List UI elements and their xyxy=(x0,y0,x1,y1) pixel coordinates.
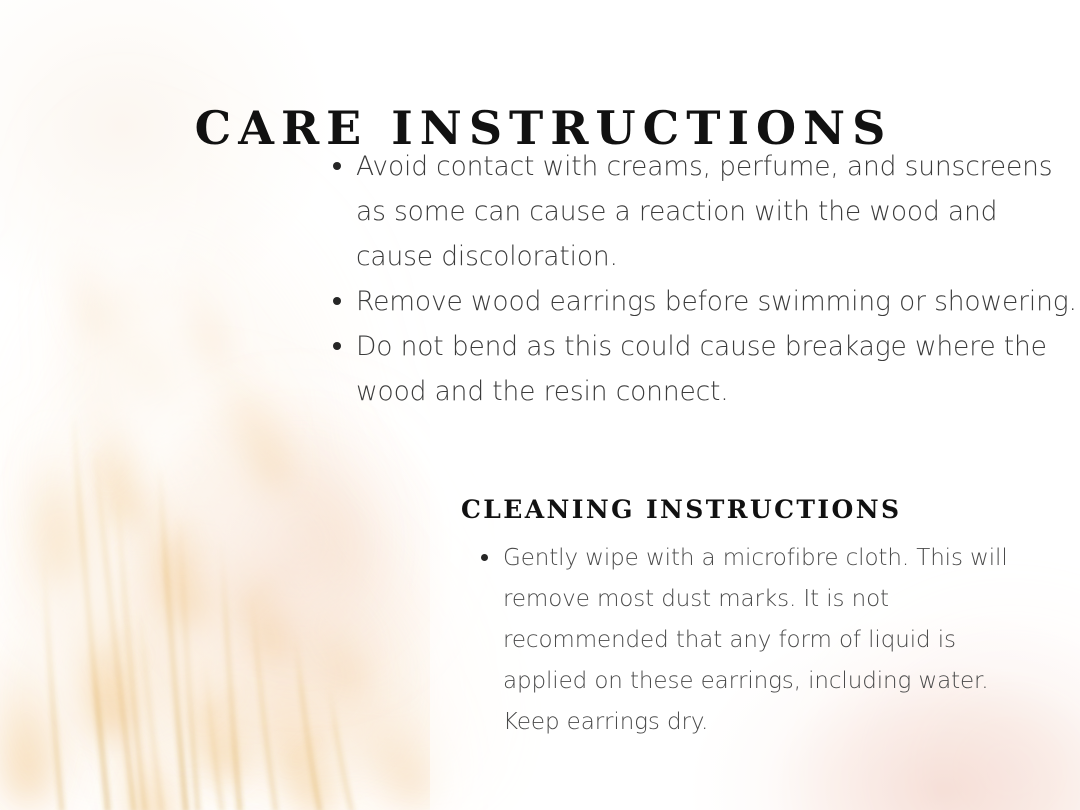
cleaning-instructions-list: Gently wipe with a microfibre cloth. Thi… xyxy=(478,538,1038,743)
care-bullet-text: Avoid contact with creams, perfume, and … xyxy=(356,151,1052,272)
bullet-dot-icon xyxy=(481,554,488,561)
care-bullet-text: Remove wood earrings before swimming or … xyxy=(356,286,1077,317)
care-bullet-text: Do not bend as this could cause breakage… xyxy=(356,331,1047,407)
list-item: Avoid contact with creams, perfume, and … xyxy=(330,144,1078,279)
list-item: Remove wood earrings before swimming or … xyxy=(330,279,1078,324)
care-instructions-list: Avoid contact with creams, perfume, and … xyxy=(330,144,1078,414)
list-item: Do not bend as this could cause breakage… xyxy=(330,324,1078,414)
cleaning-instructions-title: CLEANING INSTRUCTIONS xyxy=(330,497,1030,522)
bullet-dot-icon xyxy=(333,342,341,350)
cleaning-bullet-text: Gently wipe with a microfibre cloth. Thi… xyxy=(503,545,1008,735)
care-instructions-card: CARE INSTRUCTIONS Avoid contact with cre… xyxy=(0,0,1080,810)
list-item: Gently wipe with a microfibre cloth. Thi… xyxy=(478,538,1038,743)
bullet-dot-icon xyxy=(333,162,341,170)
instructions-content: CARE INSTRUCTIONS Avoid contact with cre… xyxy=(0,0,1080,810)
bullet-dot-icon xyxy=(333,297,341,305)
